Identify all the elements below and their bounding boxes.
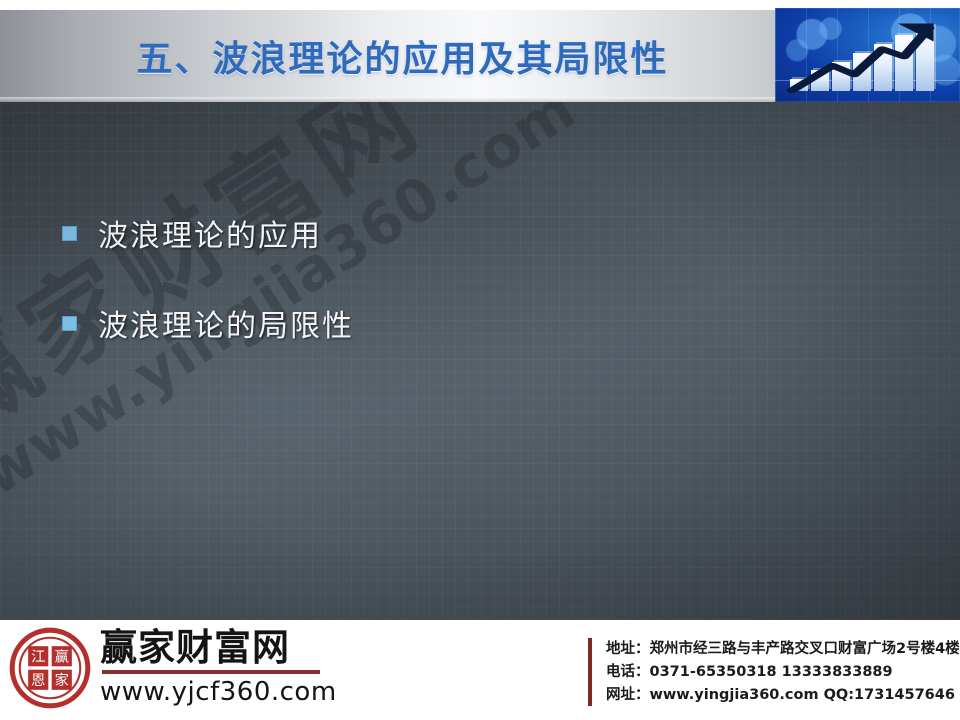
contact-address: 地址：郑州市经三路与丰产路交叉口财富广场2号楼4楼C户	[606, 638, 960, 661]
slide-body: 赢家财富网 www.yingjia360.com 波浪理论的应用 波浪理论的局限…	[0, 102, 960, 620]
footer: 江 赢 恩 家 赢家财富网 www.yjcf360.com 地址：郑州市经三路与…	[0, 620, 960, 720]
square-bullet-icon	[62, 226, 77, 241]
slide-canvas: 五、波浪理论的应用及其局限性 赢家财富网 www.yingjia360.com …	[0, 0, 960, 720]
seal-char-en: 恩	[31, 673, 45, 689]
seal-char-ying: 赢	[55, 648, 69, 665]
contact-website: 网址：www.yingjia360.com QQ:1731457646	[606, 684, 960, 707]
contact-phone: 电话：0371-65350318 13333833889	[606, 661, 960, 684]
list-item[interactable]: 波浪理论的应用	[62, 210, 702, 256]
brand-text-block: 赢家财富网 www.yjcf360.com	[100, 629, 337, 708]
brand-divider	[102, 670, 320, 674]
company-seal-icon: 江 赢 恩 家	[8, 626, 92, 710]
seal-char-jiang: 江	[31, 648, 45, 665]
bullet-list: 波浪理论的应用 波浪理论的局限性	[62, 210, 702, 390]
list-item-label: 波浪理论的局限性	[98, 301, 354, 345]
list-item[interactable]: 波浪理论的局限性	[62, 300, 702, 346]
brand-name: 赢家财富网	[100, 629, 337, 668]
up-arrow-icon	[786, 19, 941, 94]
brand-block: 江 赢 恩 家 赢家财富网 www.yjcf360.com	[8, 626, 337, 710]
list-item-label: 波浪理论的应用	[98, 211, 322, 255]
page-title: 五、波浪理论的应用及其局限性	[0, 10, 775, 102]
brand-url[interactable]: www.yjcf360.com	[100, 677, 337, 707]
seal-char-jia: 家	[55, 672, 69, 689]
square-bullet-icon	[62, 316, 77, 331]
contact-block: 地址：郑州市经三路与丰产路交叉口财富广场2号楼4楼C户 电话：0371-6535…	[588, 638, 960, 706]
growth-chart-icon	[775, 8, 960, 102]
